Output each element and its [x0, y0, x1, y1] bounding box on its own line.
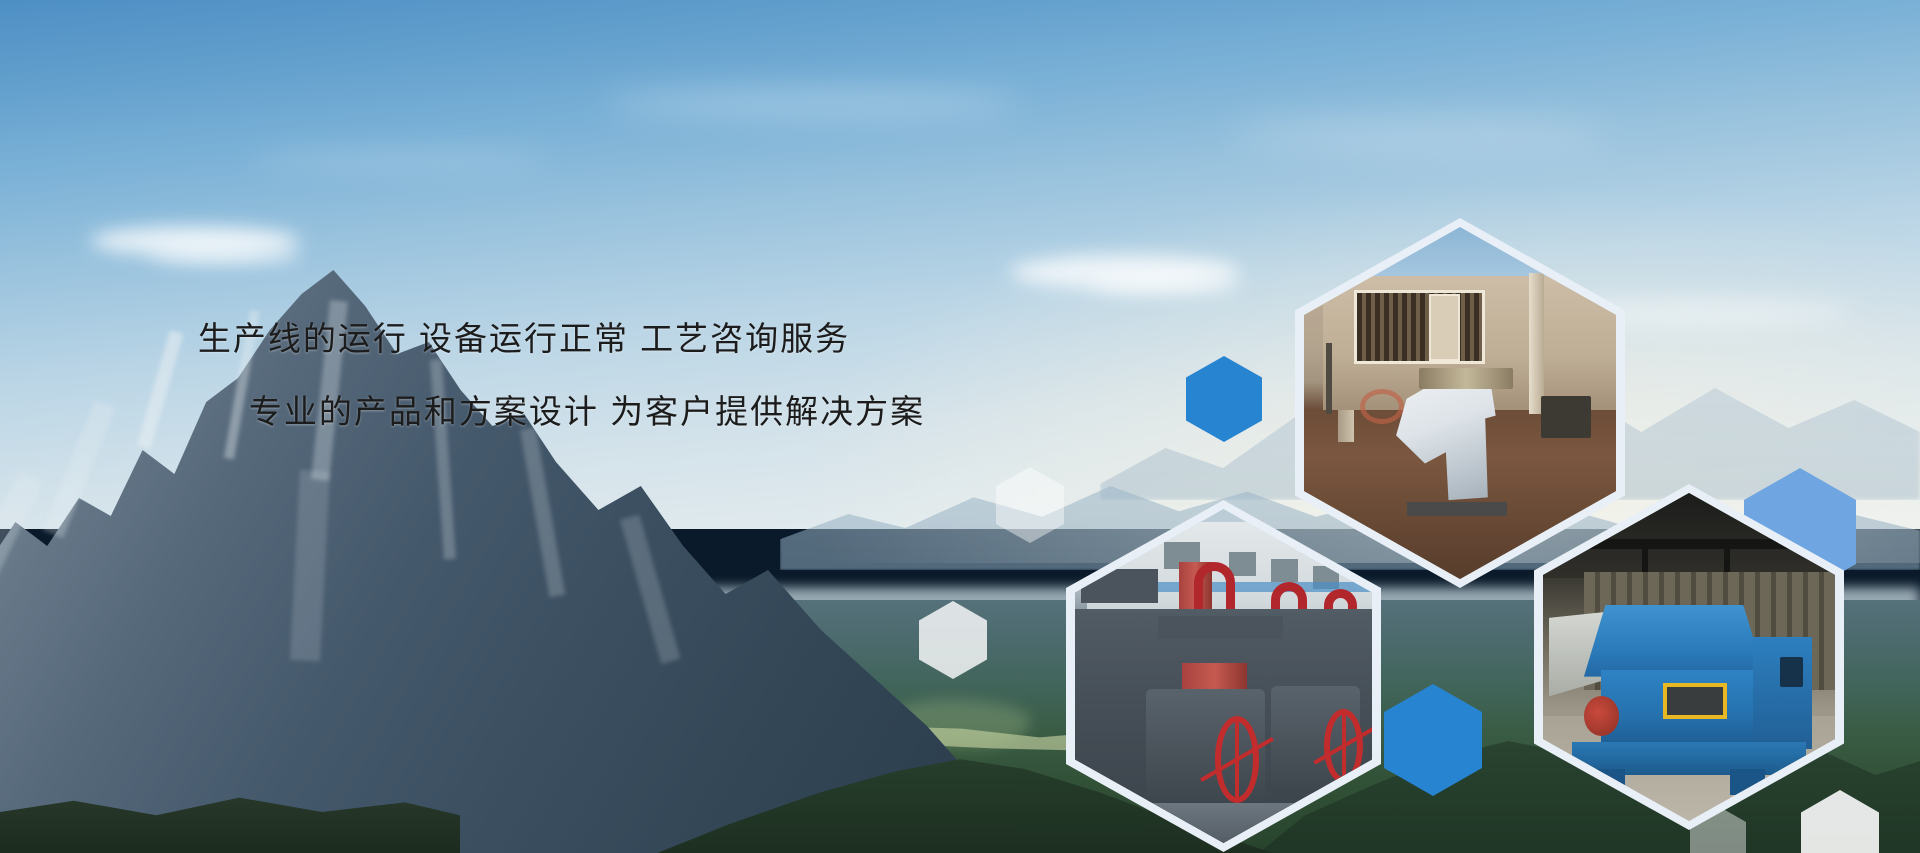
photo-window	[1271, 559, 1298, 582]
photo-red-motor	[1584, 696, 1619, 735]
hexagon-photo-grey-machines[interactable]	[1066, 500, 1381, 852]
photo-yellow-guard	[1663, 683, 1727, 719]
photo-pole	[1326, 343, 1332, 413]
photo-red-pipe	[1194, 562, 1236, 609]
cloud	[1230, 120, 1610, 150]
photo-barrel	[1338, 410, 1354, 442]
photo-floor-rail	[1075, 803, 1372, 843]
cloud	[600, 90, 1020, 116]
cloud	[150, 246, 300, 264]
photo-dark-equipment	[1541, 396, 1591, 438]
photo-blue-drive-housing	[1753, 637, 1811, 749]
photo-red-handwheel	[1215, 716, 1260, 803]
photo-warehouse-roof	[1543, 493, 1835, 578]
hero-banner: 生产线的运行 设备运行正常 工艺咨询服务 专业的产品和方案设计 为客户提供解决方…	[0, 0, 1920, 853]
photo-red-hose	[1360, 389, 1404, 424]
photo-window	[1229, 552, 1256, 575]
photo-access-port	[1780, 657, 1803, 687]
photo-machine-frame	[1158, 616, 1283, 639]
photo-machine-base	[1407, 502, 1507, 516]
photo-wall-column	[1529, 273, 1545, 414]
photo-blue-hopper	[1584, 605, 1765, 677]
photo-barred-window	[1354, 290, 1485, 364]
cloud	[250, 150, 550, 170]
hexagon-photo-blue-shredder[interactable]	[1534, 484, 1844, 830]
photo-window-pane	[1429, 294, 1460, 361]
photo-machine-flange	[1419, 368, 1513, 389]
cloud	[1090, 276, 1240, 294]
photo-red-block	[1182, 663, 1247, 693]
